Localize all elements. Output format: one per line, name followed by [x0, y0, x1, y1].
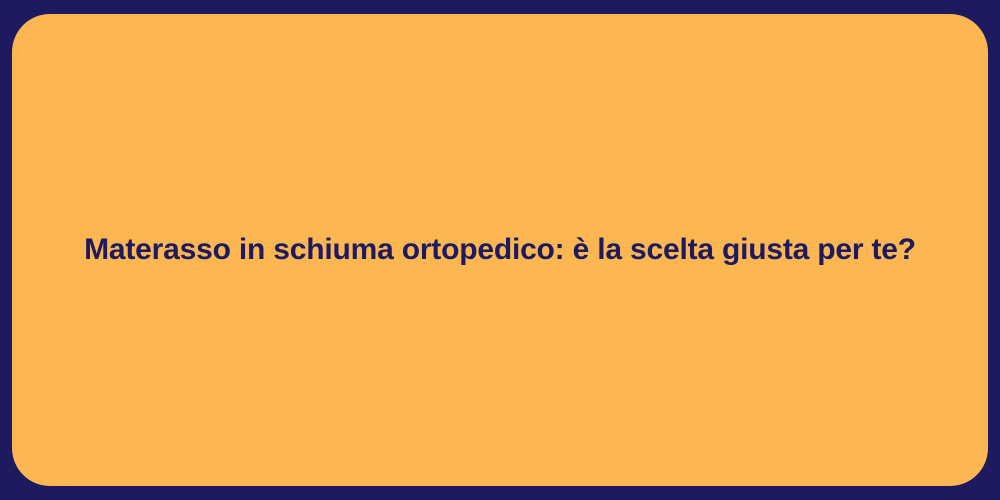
banner-panel: Materasso in schiuma ortopedico: è la sc… — [12, 14, 988, 486]
banner-frame: Materasso in schiuma ortopedico: è la sc… — [0, 0, 1000, 500]
banner-heading: Materasso in schiuma ortopedico: è la sc… — [84, 231, 916, 269]
